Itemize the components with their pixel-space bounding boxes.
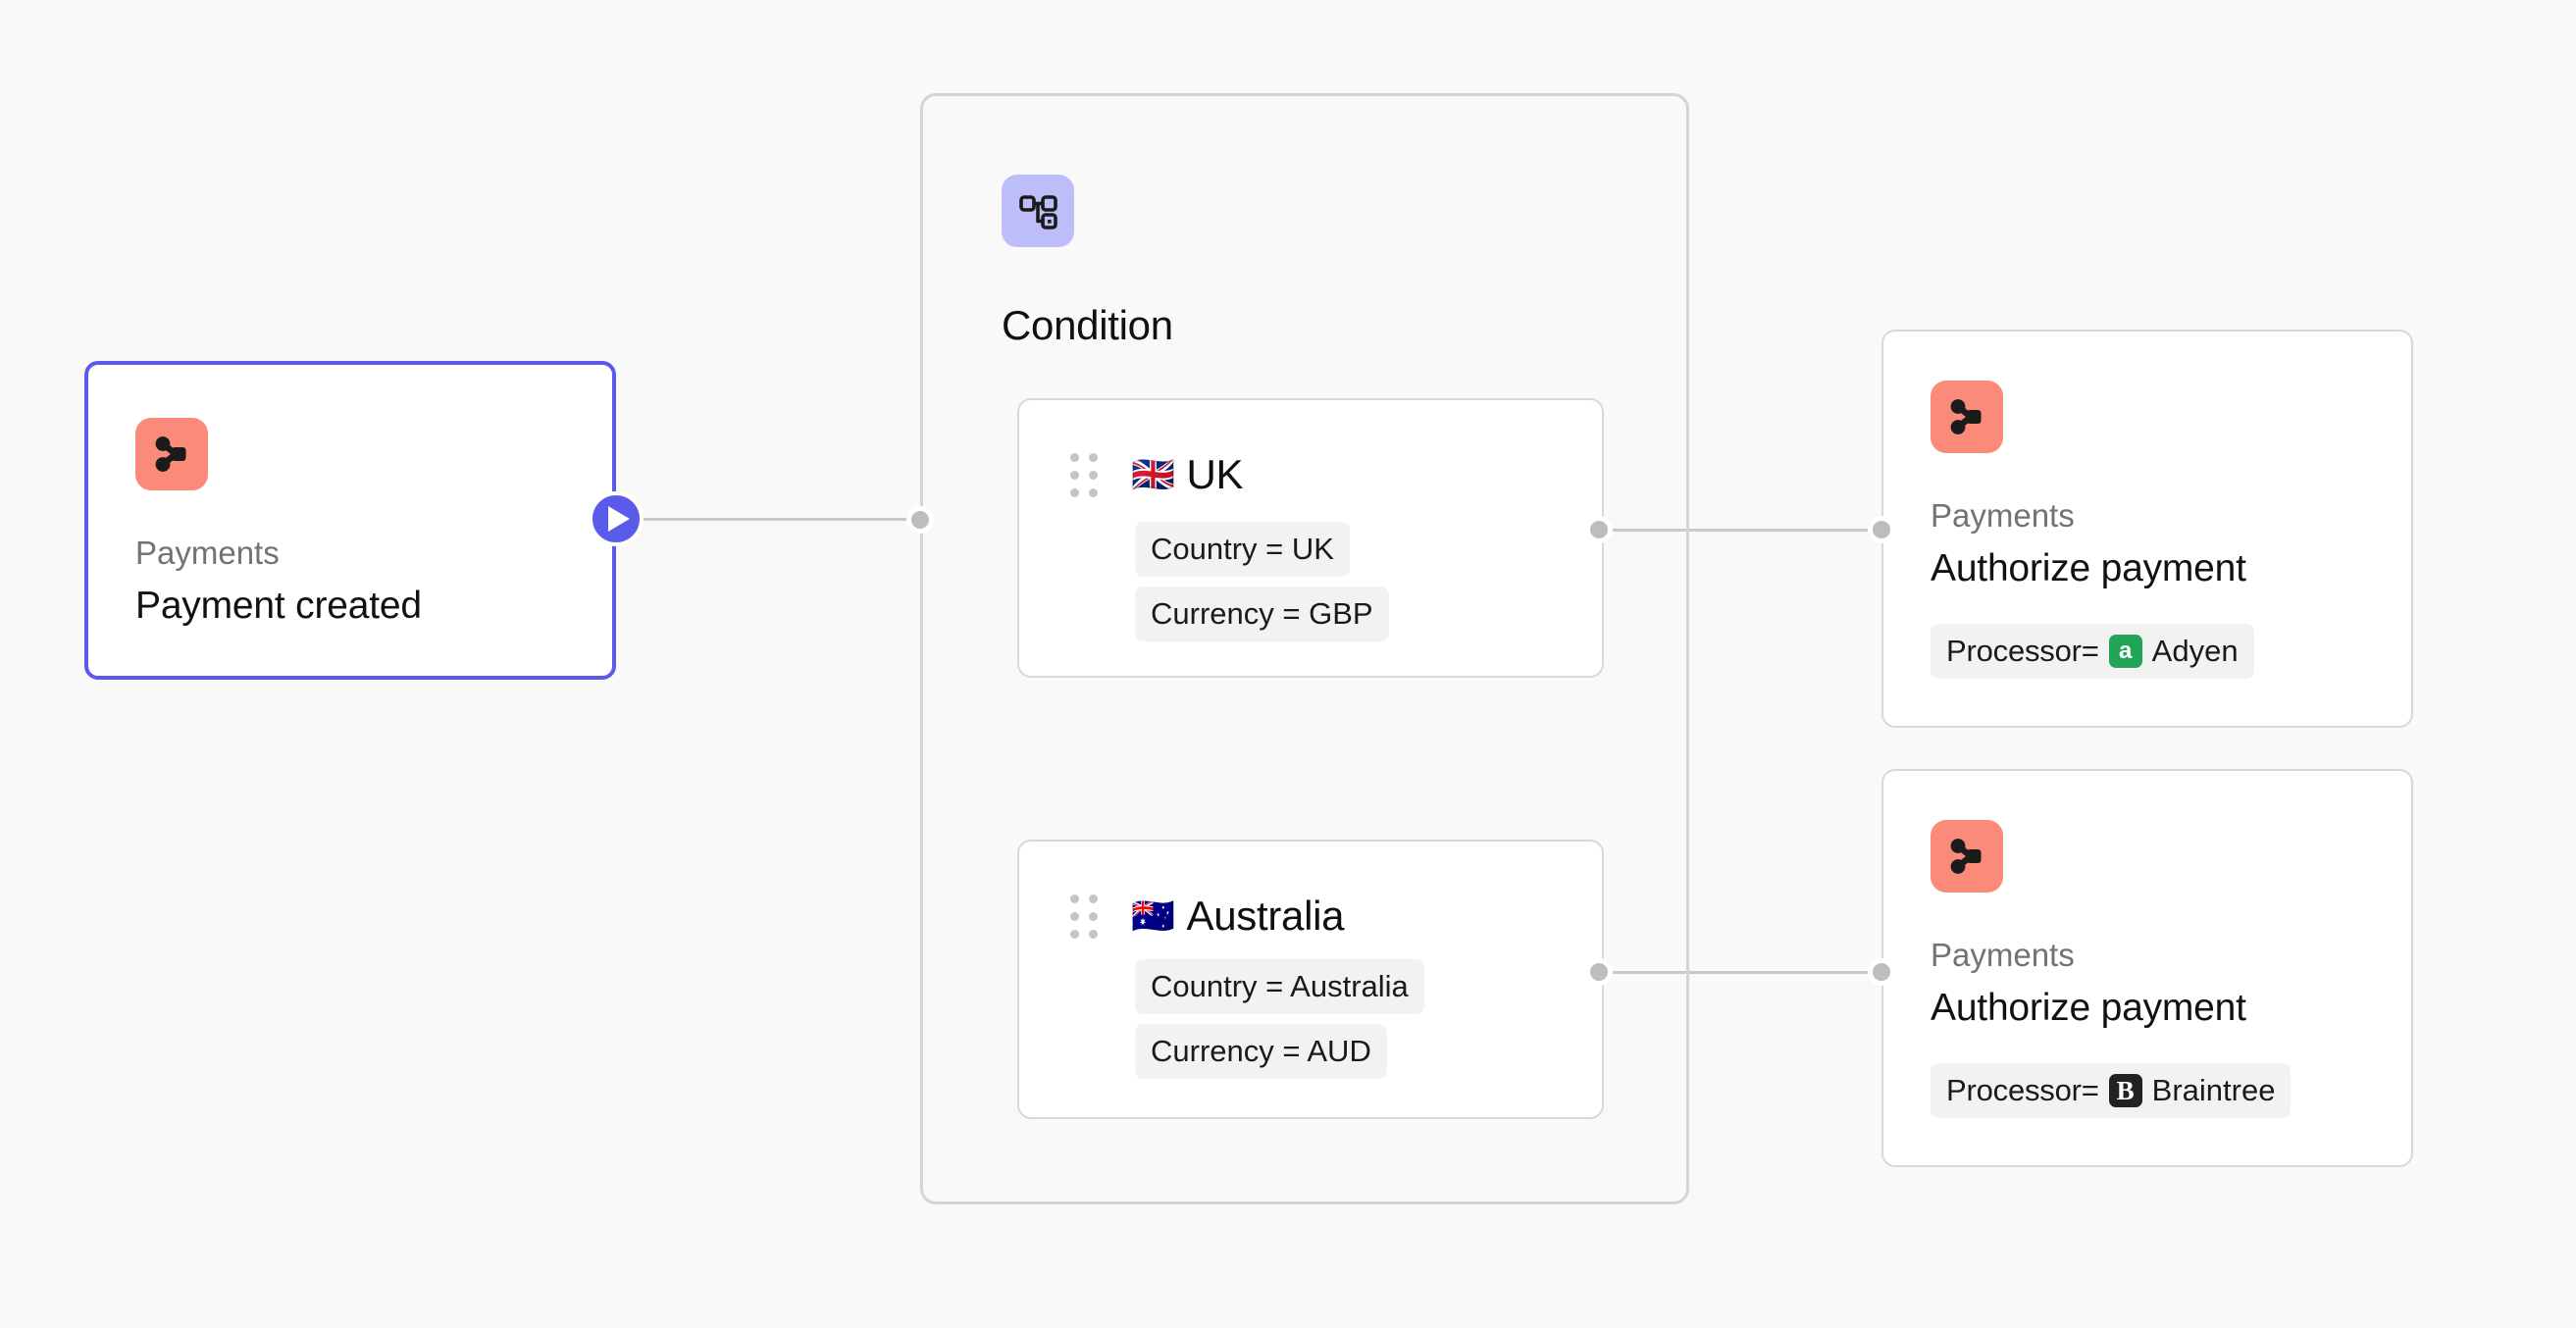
node-card-authorize-payment-braintree[interactable]: Payments Authorize payment Processor= B … [1881,769,2413,1167]
payments-node-icon [1931,381,2003,453]
play-icon [608,506,630,532]
condition-pill-currency: Currency = AUD [1135,1024,1387,1079]
workflow-canvas[interactable]: Condition 🇬🇧 UK Country = UK Currency = … [0,0,2576,1328]
braintree-logo-icon: B [2109,1074,2142,1107]
branch-header-australia: 🇦🇺 Australia [1070,893,1602,940]
processor-label: Processor= [1946,1070,2099,1111]
port-australia-branch-output[interactable] [1585,958,1613,986]
branch-label: UK [1187,451,1244,498]
edge-trigger-to-condition [628,518,922,521]
condition-title: Condition [1002,302,1173,349]
branch-header-uk: 🇬🇧 UK [1070,451,1602,498]
node-app-label: Payments [1931,936,2411,975]
condition-branch-icon [1002,175,1074,247]
australia-flag-icon: 🇦🇺 [1131,898,1175,934]
branch-label: Australia [1187,893,1345,940]
branch-name-uk: 🇬🇧 UK [1131,451,1243,498]
drag-handle-icon[interactable] [1070,453,1098,497]
node-title: Payment created [135,583,612,631]
processor-name: Adyen [2152,631,2239,672]
node-title: Authorize payment [1931,985,2411,1033]
run-play-button[interactable] [589,491,644,546]
drag-handle-icon[interactable] [1070,894,1098,939]
port-condition-input[interactable] [906,506,934,534]
uk-flag-icon: 🇬🇧 [1131,457,1175,492]
adyen-logo-icon: a [2109,635,2142,668]
condition-pill-currency: Currency = GBP [1135,587,1389,641]
port-authorize-braintree-input[interactable] [1868,958,1895,986]
node-title: Authorize payment [1931,545,2411,593]
branch-name-australia: 🇦🇺 Australia [1131,893,1344,940]
node-app-label: Payments [135,534,612,573]
condition-pill-country: Country = Australia [1135,959,1424,1014]
node-card-authorize-payment-adyen[interactable]: Payments Authorize payment Processor= a … [1881,330,2413,728]
port-uk-branch-output[interactable] [1585,516,1613,543]
processor-label: Processor= [1946,631,2099,672]
processor-pill-adyen: Processor= a Adyen [1931,624,2254,679]
branch-card-uk[interactable]: 🇬🇧 UK Country = UK Currency = GBP [1017,398,1604,678]
node-card-payment-created[interactable]: Payments Payment created [84,361,616,680]
badge-glyph: B [2117,1078,2135,1104]
badge-glyph: a [2119,639,2132,663]
processor-name: Braintree [2152,1070,2276,1111]
node-app-label: Payments [1931,496,2411,536]
condition-group-container[interactable]: Condition 🇬🇧 UK Country = UK Currency = … [920,93,1689,1204]
processor-pill-braintree: Processor= B Braintree [1931,1063,2291,1118]
payments-node-icon [135,418,208,490]
condition-pill-country: Country = UK [1135,522,1350,577]
port-authorize-adyen-input[interactable] [1868,516,1895,543]
branch-card-australia[interactable]: 🇦🇺 Australia Country = Australia Currenc… [1017,840,1604,1119]
payments-node-icon [1931,820,2003,893]
